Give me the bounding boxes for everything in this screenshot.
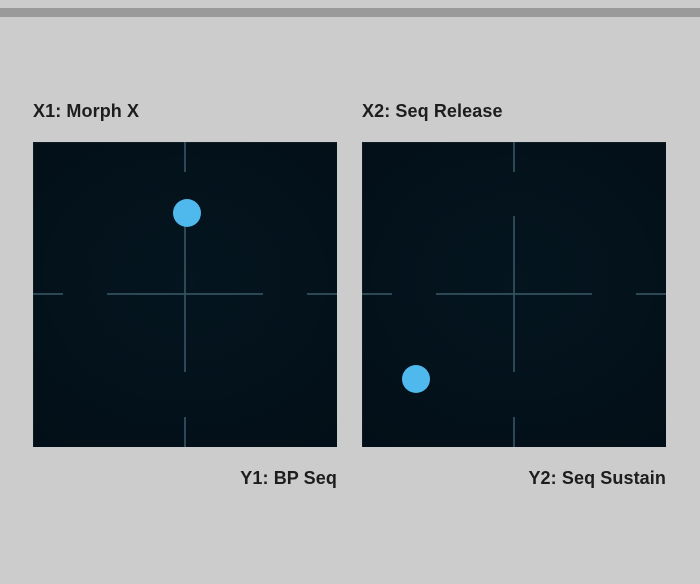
pad-1-y-axis-label: Y1: BP Seq — [33, 468, 337, 488]
pad-2-x-axis-label: X2: Seq Release — [362, 101, 666, 121]
pad-1-crosshair-horizontal — [107, 293, 263, 295]
pad-2-tick-bottom — [513, 417, 515, 447]
pad-2-tick-top — [513, 142, 515, 172]
xy-pad-panel: X1: Morph X Y1: BP Seq X2: Seq Release Y… — [0, 17, 700, 584]
xy-pad-handle-2[interactable] — [402, 365, 430, 393]
pad-2-crosshair-horizontal — [436, 293, 592, 295]
pad-1-tick-left — [33, 293, 63, 295]
xy-pad-group-2: X2: Seq Release Y2: Seq Sustain — [362, 101, 666, 488]
xy-pad-handle-1[interactable] — [173, 199, 201, 227]
pad-2-y-axis-label: Y2: Seq Sustain — [362, 468, 666, 488]
pad-1-tick-right — [307, 293, 337, 295]
xy-pad-surface-2[interactable] — [362, 142, 666, 447]
pad-1-tick-top — [184, 142, 186, 172]
pad-1-x-axis-label: X1: Morph X — [33, 101, 337, 121]
pad-1-tick-bottom — [184, 417, 186, 447]
pad-2-tick-left — [362, 293, 392, 295]
xy-pad-surface-1[interactable] — [33, 142, 337, 447]
xy-pad-group-1: X1: Morph X Y1: BP Seq — [33, 101, 337, 488]
pad-2-tick-right — [636, 293, 666, 295]
window-title-strip — [0, 8, 700, 17]
